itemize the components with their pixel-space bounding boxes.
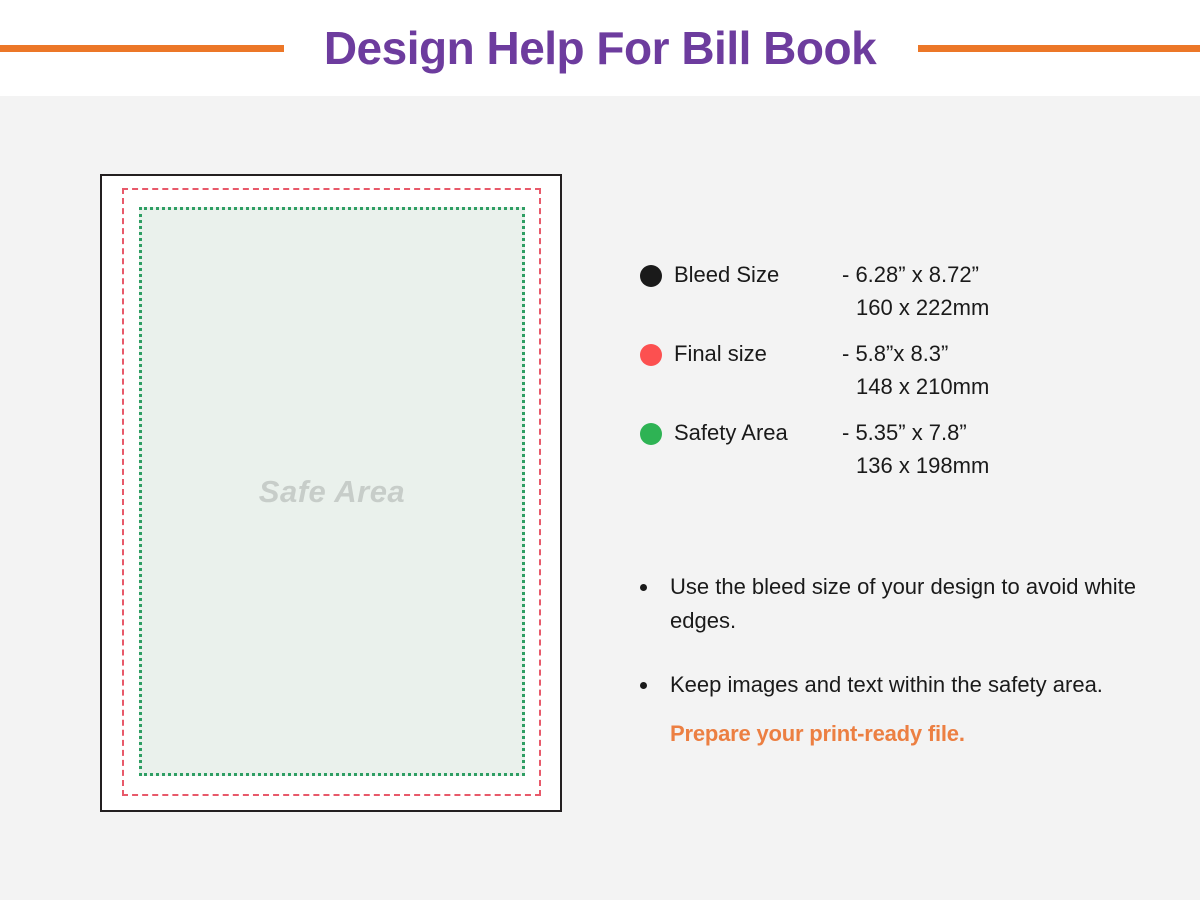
- info-panel: Bleed Size - 6.28” x 8.72” 160 x 222mm F…: [640, 258, 1170, 495]
- safety-area-frame: Safe Area: [139, 207, 525, 776]
- legend-value-line2: 160 x 222mm: [842, 291, 989, 324]
- legend-value-line1: - 6.28” x 8.72”: [842, 262, 979, 287]
- legend-value-line1: - 5.35” x 7.8”: [842, 420, 967, 445]
- safety-area-dot: [640, 423, 662, 445]
- tip-text: Keep images and text within the safety a…: [670, 668, 1103, 702]
- safe-area-label: Safe Area: [259, 474, 405, 510]
- legend-value: - 5.8”x 8.3” 148 x 210mm: [842, 337, 989, 403]
- legend-label: Final size: [674, 337, 842, 370]
- bleed-size-dot: [640, 265, 662, 287]
- legend-label: Bleed Size: [674, 258, 842, 291]
- legend-row: Bleed Size - 6.28” x 8.72” 160 x 222mm: [640, 258, 1170, 324]
- legend-value-line1: - 5.8”x 8.3”: [842, 341, 948, 366]
- final-size-frame: Safe Area: [122, 188, 541, 796]
- bullet-icon: [640, 584, 647, 591]
- legend-value-line2: 148 x 210mm: [842, 370, 989, 403]
- page-title: Design Help For Bill Book: [0, 0, 1200, 96]
- size-legend: Bleed Size - 6.28” x 8.72” 160 x 222mm F…: [640, 258, 1170, 482]
- bleed-size-frame: Safe Area: [100, 174, 562, 812]
- legend-row: Safety Area - 5.35” x 7.8” 136 x 198mm: [640, 416, 1170, 482]
- print-ready-callout: Prepare your print-ready file.: [670, 721, 965, 747]
- tips-list: Use the bleed size of your design to avo…: [640, 570, 1180, 732]
- legend-value: - 6.28” x 8.72” 160 x 222mm: [842, 258, 989, 324]
- bullet-icon: [640, 682, 647, 689]
- list-item: Use the bleed size of your design to avo…: [640, 570, 1180, 638]
- legend-value: - 5.35” x 7.8” 136 x 198mm: [842, 416, 989, 482]
- legend-value-line2: 136 x 198mm: [842, 449, 989, 482]
- legend-row: Final size - 5.8”x 8.3” 148 x 210mm: [640, 337, 1170, 403]
- tip-text: Use the bleed size of your design to avo…: [670, 570, 1180, 638]
- final-size-dot: [640, 344, 662, 366]
- legend-label: Safety Area: [674, 416, 842, 449]
- list-item: Keep images and text within the safety a…: [640, 668, 1180, 702]
